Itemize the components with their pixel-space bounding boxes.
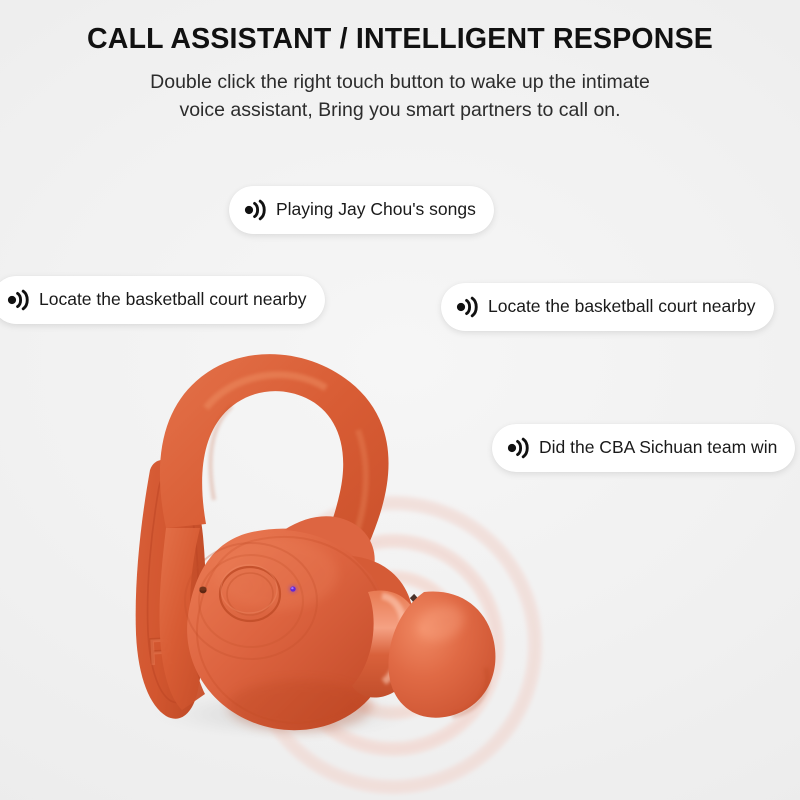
sound-wave-icon xyxy=(243,199,269,221)
voice-command-bubble-court-left[interactable]: Locate the basketball court nearby xyxy=(0,276,325,324)
header-block: CALL ASSISTANT / INTELLIGENT RESPONSE Do… xyxy=(0,22,800,125)
subtitle-line-1: Double click the right touch button to w… xyxy=(0,68,800,96)
sound-wave-icon xyxy=(506,437,532,459)
voice-command-bubble-court-right[interactable]: Locate the basketball court nearby xyxy=(441,283,774,331)
product-marketing-banner: R R xyxy=(0,0,800,800)
voice-command-bubble-music[interactable]: Playing Jay Chou's songs xyxy=(229,186,494,234)
page-title: CALL ASSISTANT / INTELLIGENT RESPONSE xyxy=(0,22,800,56)
bubble-text: Locate the basketball court nearby xyxy=(39,291,307,309)
voice-command-bubble-cba[interactable]: Did the CBA Sichuan team win xyxy=(492,424,795,472)
page-subtitle: Double click the right touch button to w… xyxy=(0,68,800,125)
sound-wave-icon xyxy=(6,289,32,311)
subtitle-line-2: voice assistant, Bring you smart partner… xyxy=(0,96,800,124)
bubble-text: Locate the basketball court nearby xyxy=(488,298,756,316)
led-indicator xyxy=(288,585,297,593)
bubble-text: Playing Jay Chou's songs xyxy=(276,201,476,219)
bubble-text: Did the CBA Sichuan team win xyxy=(539,439,777,457)
sound-wave-icon xyxy=(455,296,481,318)
